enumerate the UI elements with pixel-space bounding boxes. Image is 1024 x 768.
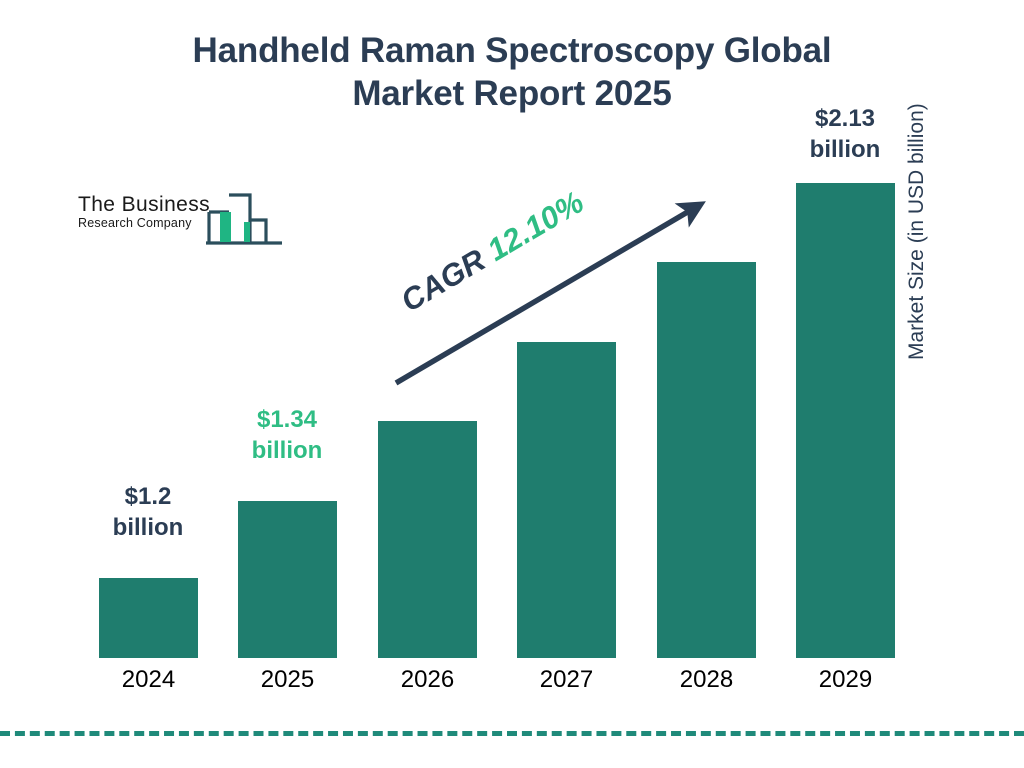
value-label-2029-amount: $2.13 (780, 104, 910, 135)
value-label-2025-unit: billion (222, 436, 352, 467)
bar-2026 (378, 421, 477, 658)
value-label-2029: $2.13 billion (780, 104, 910, 165)
company-logo-line-1: The Business (78, 194, 213, 216)
x-axis-label-2026: 2026 (378, 666, 477, 694)
x-axis-label-2029: 2029 (796, 666, 895, 694)
value-label-2025: $1.34 billion (222, 405, 352, 466)
value-label-2024-amount: $1.2 (83, 482, 213, 513)
footer-divider (0, 731, 1024, 736)
bar-2024 (99, 578, 198, 658)
value-label-2024: $1.2 billion (83, 482, 213, 543)
company-logo: The Business Research Company (78, 192, 283, 254)
x-axis-label-2028: 2028 (657, 666, 756, 694)
x-axis-label-2027: 2027 (517, 666, 616, 694)
chart-title-line-1: Handheld Raman Spectroscopy Global (112, 30, 912, 73)
company-logo-text: The Business Research Company (78, 194, 213, 231)
chart-canvas: Handheld Raman Spectroscopy Global Marke… (0, 0, 1024, 768)
y-axis-title: Market Size (in USD billion) (905, 20, 929, 360)
x-axis-label-2024: 2024 (99, 666, 198, 694)
value-label-2025-amount: $1.34 (222, 405, 352, 436)
value-label-2024-unit: billion (83, 513, 213, 544)
chart-title: Handheld Raman Spectroscopy Global Marke… (112, 30, 912, 115)
company-logo-line-2: Research Company (78, 217, 213, 231)
value-label-2029-unit: billion (780, 135, 910, 166)
bar-chart-logo-mark (206, 192, 284, 250)
x-axis-label-2025: 2025 (238, 666, 337, 694)
bar-2025 (238, 501, 337, 658)
bar-2029 (796, 183, 895, 658)
